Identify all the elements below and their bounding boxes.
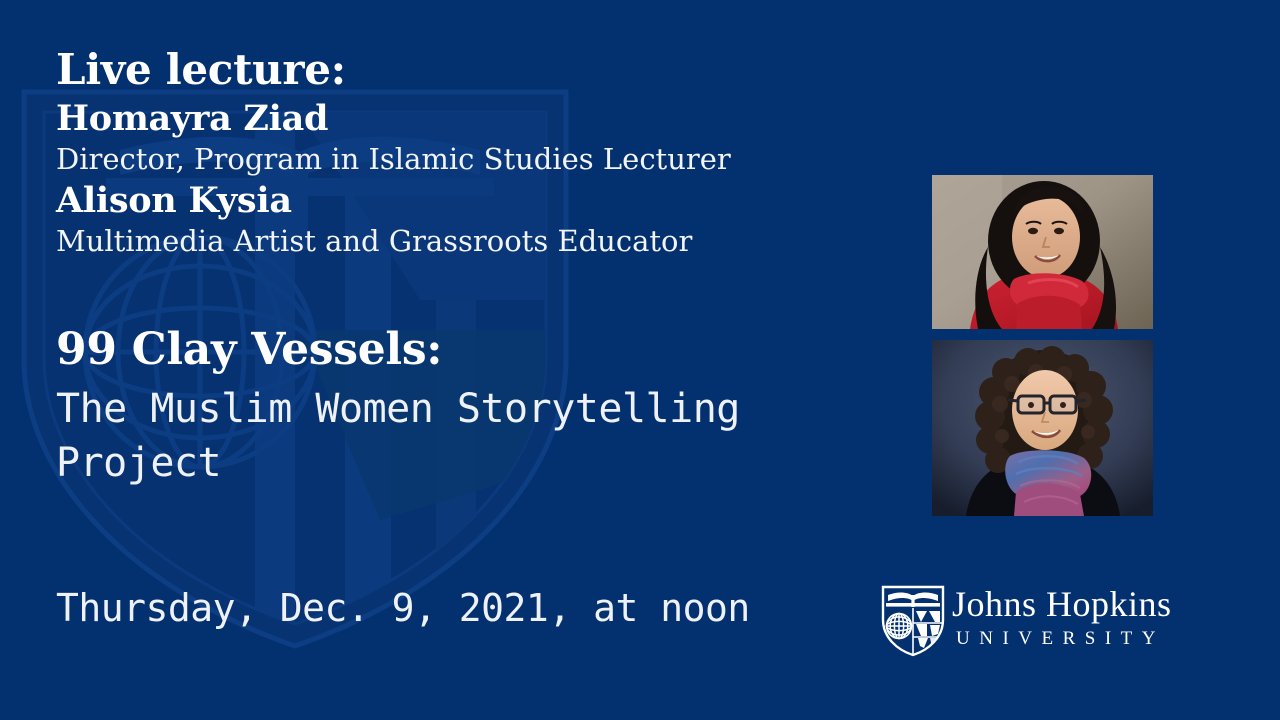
live-lecture-label: Live lecture:	[56, 44, 886, 96]
speaker-name-homayra-ziad: Homayra Ziad	[56, 98, 886, 140]
speaker-name-alison-kysia: Alison Kysia	[56, 180, 886, 222]
lecture-announcement-slide: Live lecture: Homayra Ziad Director, Pro…	[0, 0, 1280, 720]
talk-subtitle: The Muslim Women Storytelling Project	[56, 382, 868, 490]
jhu-shield-icon	[880, 584, 946, 658]
event-datetime: Thursday, Dec. 9, 2021, at noon	[56, 584, 750, 632]
johns-hopkins-logo: Johns Hopkins UNIVERSITY	[880, 582, 1205, 660]
speaker-title-homayra-ziad: Director, Program in Islamic Studies Lec…	[56, 140, 886, 178]
announcement-text-column: Live lecture: Homayra Ziad Director, Pro…	[56, 44, 886, 490]
speaker-photo-homayra-ziad	[932, 175, 1153, 329]
logo-subtitle: UNIVERSITY	[956, 627, 1172, 651]
speaker-photo-alison-kysia	[932, 340, 1153, 516]
talk-title: 99 Clay Vessels:	[56, 322, 886, 378]
speaker-title-alison-kysia: Multimedia Artist and Grassroots Educato…	[56, 222, 886, 260]
talk-block: 99 Clay Vessels: The Muslim Women Storyt…	[56, 322, 886, 490]
logo-wordmark: Johns Hopkins UNIVERSITY	[952, 584, 1172, 651]
logo-name: Johns Hopkins	[952, 584, 1172, 624]
